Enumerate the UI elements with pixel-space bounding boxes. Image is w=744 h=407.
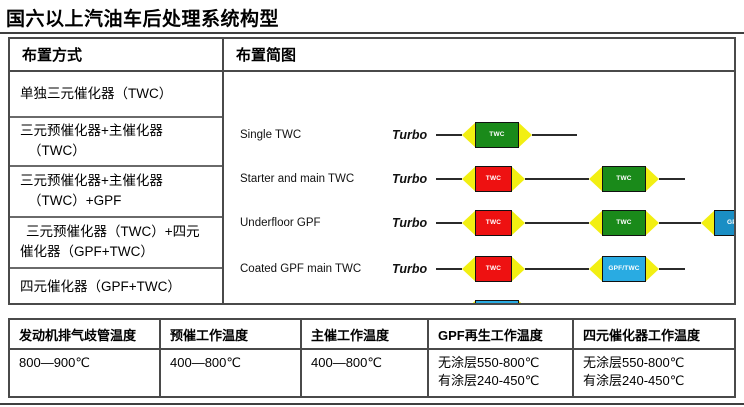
catalyst-box: GPF/ TWC bbox=[602, 256, 646, 282]
outlet-cone-icon bbox=[518, 300, 532, 303]
temp-header-4: 四元催化器工作温度 bbox=[574, 320, 734, 348]
config-label-line1: 三元预催化器+主催化器 bbox=[20, 171, 163, 191]
catalyst-label: TWC bbox=[489, 131, 504, 138]
catalyst-gpf-twc: GPF/ TWC bbox=[475, 300, 519, 303]
temp-value-0: 800—900℃ bbox=[10, 348, 159, 396]
exhaust-pipe bbox=[436, 178, 462, 180]
exhaust-pipe bbox=[436, 268, 462, 270]
inlet-cone-icon bbox=[701, 210, 715, 236]
diagram-label: Single TWC bbox=[240, 129, 301, 141]
title-divider bbox=[0, 32, 744, 34]
outlet-cone-icon bbox=[518, 122, 532, 148]
temp-header-3: GPF再生工作温度 bbox=[429, 320, 572, 348]
diagram-label: Coated GPF main TWC bbox=[240, 263, 361, 275]
catalyst-gpf: GPF bbox=[714, 210, 734, 236]
outlet-cone-icon bbox=[511, 166, 525, 192]
inlet-cone-icon bbox=[589, 210, 603, 236]
diagram-row-underfloor-gpf: Underfloor GPF Turbo TWC TWC bbox=[224, 201, 734, 245]
turbo-label: Turbo bbox=[392, 216, 427, 230]
table-row-config-5: 四元催化器（GPF+TWC） bbox=[10, 268, 222, 305]
inlet-cone-icon bbox=[589, 166, 603, 192]
catalyst-box: TWC bbox=[602, 210, 646, 236]
page-title: 国六以上汽油车后处理系统构型 bbox=[6, 4, 279, 31]
config-label: 单独三元催化器（TWC） bbox=[20, 84, 172, 104]
table-row-config-2: 三元预催化器+主催化器 （TWC） bbox=[10, 117, 222, 165]
config-label: 三元预催化器+主催化器 （TWC）+GPF bbox=[20, 171, 163, 210]
mid-pipe bbox=[525, 178, 589, 180]
inlet-cone-icon bbox=[462, 300, 476, 303]
table-header-layout-method: 布置方式 bbox=[10, 39, 222, 70]
diagram-label: Underfloor GPF bbox=[240, 217, 321, 229]
config-label-line1: 三元预催化器+主催化器 bbox=[20, 121, 163, 141]
inlet-cone-icon bbox=[462, 166, 476, 192]
table-row-config-4: 三元预催化器（TWC）+四元 催化器（GPF+TWC） bbox=[10, 217, 222, 267]
catalyst-twc-green: TWC bbox=[475, 122, 519, 148]
exhaust-pipe bbox=[436, 134, 462, 136]
catalyst-box: GPF bbox=[714, 210, 734, 236]
diagram-column: Single TWC Turbo TWC Starter and main TW… bbox=[224, 72, 734, 303]
config-label: 四元催化器（GPF+TWC） bbox=[20, 277, 181, 297]
catalyst-label: TWC bbox=[616, 175, 631, 182]
temp-value-2: 400—800℃ bbox=[302, 348, 427, 396]
catalyst-box: TWC bbox=[602, 166, 646, 192]
inlet-cone-icon bbox=[462, 122, 476, 148]
bottom-divider bbox=[0, 403, 744, 405]
inlet-cone-icon bbox=[589, 256, 603, 282]
temp-header-0: 发动机排气歧管温度 bbox=[10, 320, 159, 348]
mid-pipe-2 bbox=[659, 222, 701, 224]
catalyst-box: TWC bbox=[475, 122, 519, 148]
catalyst-twc-green: TWC bbox=[602, 166, 646, 192]
temp-header-1: 预催工作温度 bbox=[161, 320, 300, 348]
catalyst-label-line2: TWC bbox=[624, 265, 639, 272]
temp-value-line1: 400—800℃ bbox=[170, 354, 300, 372]
catalyst-twc-red: TWC bbox=[475, 166, 512, 192]
catalyst-box: TWC bbox=[475, 256, 512, 282]
outlet-cone-icon bbox=[645, 166, 659, 192]
config-label-line1: 三元预催化器（TWC）+四元 bbox=[20, 222, 200, 242]
catalyst-gpf-twc: GPF/ TWC bbox=[602, 256, 646, 282]
catalyst-label: TWC bbox=[486, 175, 501, 182]
temp-value-line1: 无涂层550-800℃ bbox=[438, 354, 572, 372]
catalyst-label: TWC bbox=[486, 219, 501, 226]
diagram-row-coated-gpf-main-twc: Coated GPF main TWC Turbo TWC GPF/ TWC bbox=[224, 247, 734, 291]
temp-value-3: 无涂层550-800℃ 有涂层240-450℃ bbox=[429, 348, 572, 396]
tailpipe bbox=[532, 134, 577, 136]
page-root: 国六以上汽油车后处理系统构型 布置方式 布置简图 单独三元催化器（TWC） 三元… bbox=[0, 0, 744, 407]
temp-value-1: 400—800℃ bbox=[161, 348, 300, 396]
temp-header-2: 主催工作温度 bbox=[302, 320, 427, 348]
diagram-label: Starter and main TWC bbox=[240, 173, 354, 185]
temperature-table: 发动机排气歧管温度 预催工作温度 主催工作温度 GPF再生工作温度 四元催化器工… bbox=[8, 318, 736, 398]
temp-value-4: 无涂层550-800℃ 有涂层240-450℃ bbox=[574, 348, 734, 396]
configuration-table: 布置方式 布置简图 单独三元催化器（TWC） 三元预催化器+主催化器 （TWC）… bbox=[8, 37, 736, 305]
tailpipe bbox=[659, 268, 685, 270]
diagram-row-coated-gpf-twc: Coated GPF TWC Turbo GPF/ TWC bbox=[224, 291, 734, 303]
exhaust-pipe bbox=[436, 222, 462, 224]
catalyst-label: TWC bbox=[616, 219, 631, 226]
outlet-cone-icon bbox=[511, 256, 525, 282]
catalyst-label-line1: GPF/ bbox=[608, 265, 624, 272]
turbo-label: Turbo bbox=[392, 172, 427, 186]
temp-value-line1: 800—900℃ bbox=[19, 354, 159, 372]
catalyst-twc-red: TWC bbox=[475, 210, 512, 236]
config-label: 三元预催化器+主催化器 （TWC） bbox=[20, 121, 163, 160]
mid-pipe bbox=[525, 268, 589, 270]
catalyst-box: TWC bbox=[475, 166, 512, 192]
config-label-line2: （TWC） bbox=[20, 141, 163, 161]
temp-value-line2: 有涂层240-450℃ bbox=[438, 372, 572, 390]
catalyst-twc-red: TWC bbox=[475, 256, 512, 282]
temp-value-line1: 无涂层550-800℃ bbox=[583, 354, 734, 372]
table-row-config-1: 单独三元催化器（TWC） bbox=[10, 72, 222, 116]
catalyst-box: GPF/ TWC bbox=[475, 300, 519, 303]
diagram-row-single-twc: Single TWC Turbo TWC bbox=[224, 113, 734, 157]
outlet-cone-icon bbox=[645, 256, 659, 282]
config-label-line2: 催化器（GPF+TWC） bbox=[20, 242, 200, 262]
turbo-label: Turbo bbox=[392, 128, 427, 142]
temp-value-line2: 有涂层240-450℃ bbox=[583, 372, 734, 390]
tailpipe bbox=[659, 178, 685, 180]
outlet-cone-icon bbox=[645, 210, 659, 236]
catalyst-label: GPF bbox=[727, 219, 734, 226]
table-row-config-3: 三元预催化器+主催化器 （TWC）+GPF bbox=[10, 166, 222, 216]
inlet-cone-icon bbox=[462, 210, 476, 236]
temp-value-line1: 400—800℃ bbox=[311, 354, 427, 372]
table-header-layout-diagram: 布置简图 bbox=[224, 39, 734, 70]
config-label: 三元预催化器（TWC）+四元 催化器（GPF+TWC） bbox=[20, 222, 200, 261]
config-label-line2: （TWC）+GPF bbox=[20, 191, 163, 211]
diagram-row-starter-main-twc: Starter and main TWC Turbo TWC TWC bbox=[224, 157, 734, 201]
inlet-cone-icon bbox=[462, 256, 476, 282]
mid-pipe bbox=[525, 222, 589, 224]
turbo-label: Turbo bbox=[392, 262, 427, 276]
outlet-cone-icon bbox=[511, 210, 525, 236]
catalyst-box: TWC bbox=[475, 210, 512, 236]
catalyst-label: TWC bbox=[486, 265, 501, 272]
catalyst-twc-green: TWC bbox=[602, 210, 646, 236]
